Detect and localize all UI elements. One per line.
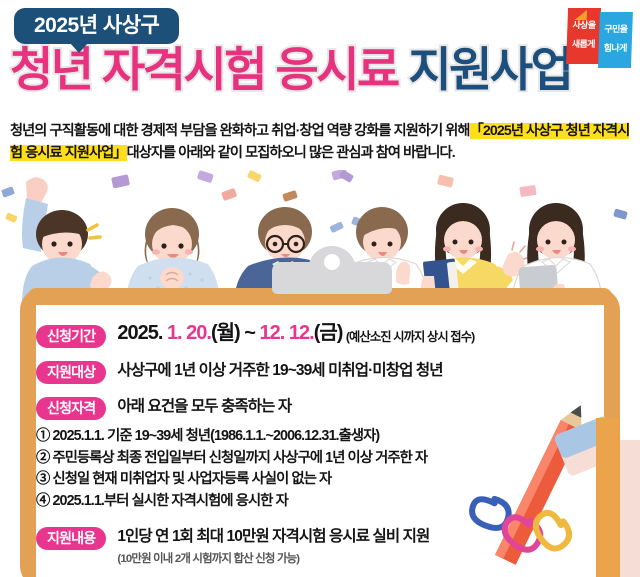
- row-application-period: 신청기간 2025. 1. 20.(월) ~ 12. 12.(금) (예산소진 …: [36, 325, 606, 348]
- intro-text-part1: 청년의 구직활동에 대한 경제적 부담을 완화하고 취업·창업 역량 강화를 지…: [10, 123, 470, 139]
- brand-chip-blue: 구민을 힘나게: [598, 12, 633, 68]
- row-support-target: 지원대상 사상구에 1년 이상 거주한 19~39세 미취업·미창업 청년: [36, 361, 606, 384]
- period-end-date: 12. 12.: [260, 322, 314, 344]
- period-start-day: (월): [211, 322, 240, 344]
- period-start-year: 2025.: [117, 322, 167, 344]
- clipboard-clip-icon: [272, 262, 392, 294]
- badge-support-target: 지원대상: [36, 361, 106, 384]
- qualification-item-1: ① 2025.1.1. 기준 19~39세 청년(1986.1.1.~2006.…: [36, 426, 606, 448]
- person-raising-fist: [22, 177, 111, 304]
- intro-description: 청년의 구직활동에 대한 경제적 부담을 완화하고 취업·창업 역량 강화를 지…: [10, 120, 632, 164]
- board-edge-shadow: [620, 440, 640, 577]
- row-qualification: 신청자격 아래 요건을 모두 충족하는 자: [36, 397, 606, 420]
- brand-red-line1: 사상을: [572, 21, 595, 30]
- brand-blue-line2: 힘나게: [603, 44, 626, 53]
- qualification-value: 아래 요건을 모두 충족하는 자: [117, 397, 291, 418]
- support-amount-subnote: (10만원 이내 2개 시험까지 합산 신청 가능): [117, 550, 429, 566]
- support-amount-value: 1인당 연 1회 최대 10만원 자격시험 응시료 실비 지원: [117, 527, 429, 548]
- content-area: 신청기간 2025. 1. 20.(월) ~ 12. 12.(금) (예산소진 …: [36, 305, 606, 577]
- period-end-day: (금): [314, 322, 343, 344]
- badge-application-period: 신청기간: [36, 325, 106, 348]
- period-start-date: 1. 20.: [167, 322, 211, 344]
- row-support-amount: 지원내용 1인당 연 1회 최대 10만원 자격시험 응시료 실비 지원 (10…: [36, 527, 606, 566]
- qualification-item-4: ④ 2025.1.1.부터 실시한 자격시험에 응시한 자: [36, 491, 606, 513]
- poster-root: 2025년 사상구 사상을 새롭게 구민을 힘나게 청년 자격시험 응시료 지원…: [0, 0, 640, 577]
- period-tilde: ~: [240, 322, 260, 344]
- brand-red-line2: 새롭게: [571, 40, 594, 49]
- brand-blue-line1: 구민을: [604, 25, 627, 34]
- intro-text-part2: 대상자를 아래와 같이 모집하오니 많은 관심과 참여 바랍니다.: [127, 145, 455, 161]
- support-amount-block: 1인당 연 1회 최대 10만원 자격시험 응시료 실비 지원 (10만원 이내…: [106, 527, 429, 566]
- brand-triangle-icon: [575, 10, 587, 20]
- qualification-item-3: ③ 신청일 현재 미취업자 및 사업자등록 사실이 없는 자: [36, 469, 606, 491]
- qualification-items: ① 2025.1.1. 기준 19~39세 청년(1986.1.1.~2006.…: [36, 426, 606, 513]
- page-title-pink: 청년 자격시험 응시료: [10, 43, 398, 96]
- page-title-navy: 지원사업: [408, 43, 571, 96]
- badge-support-amount: 지원내용: [36, 527, 106, 550]
- period-note: (예산소진 시까지 상시 접수): [346, 330, 474, 344]
- application-period-value: 2025. 1. 20.(월) ~ 12. 12.(금) (예산소진 시까지 상…: [117, 325, 474, 348]
- district-brand-logo: 사상을 새롭게 구민을 힘나게: [566, 8, 633, 68]
- qualification-item-2: ② 주민등록상 최종 전입일부터 신청일까지 사상구에 1년 이상 거주한 자: [36, 448, 606, 470]
- year-badge: 2025년 사상구: [14, 8, 179, 44]
- support-target-value: 사상구에 1년 이상 거주한 19~39세 미취업·미창업 청년: [117, 361, 442, 382]
- badge-qualification: 신청자격: [36, 397, 106, 420]
- page-title: 청년 자격시험 응시료 지원사업: [10, 46, 634, 93]
